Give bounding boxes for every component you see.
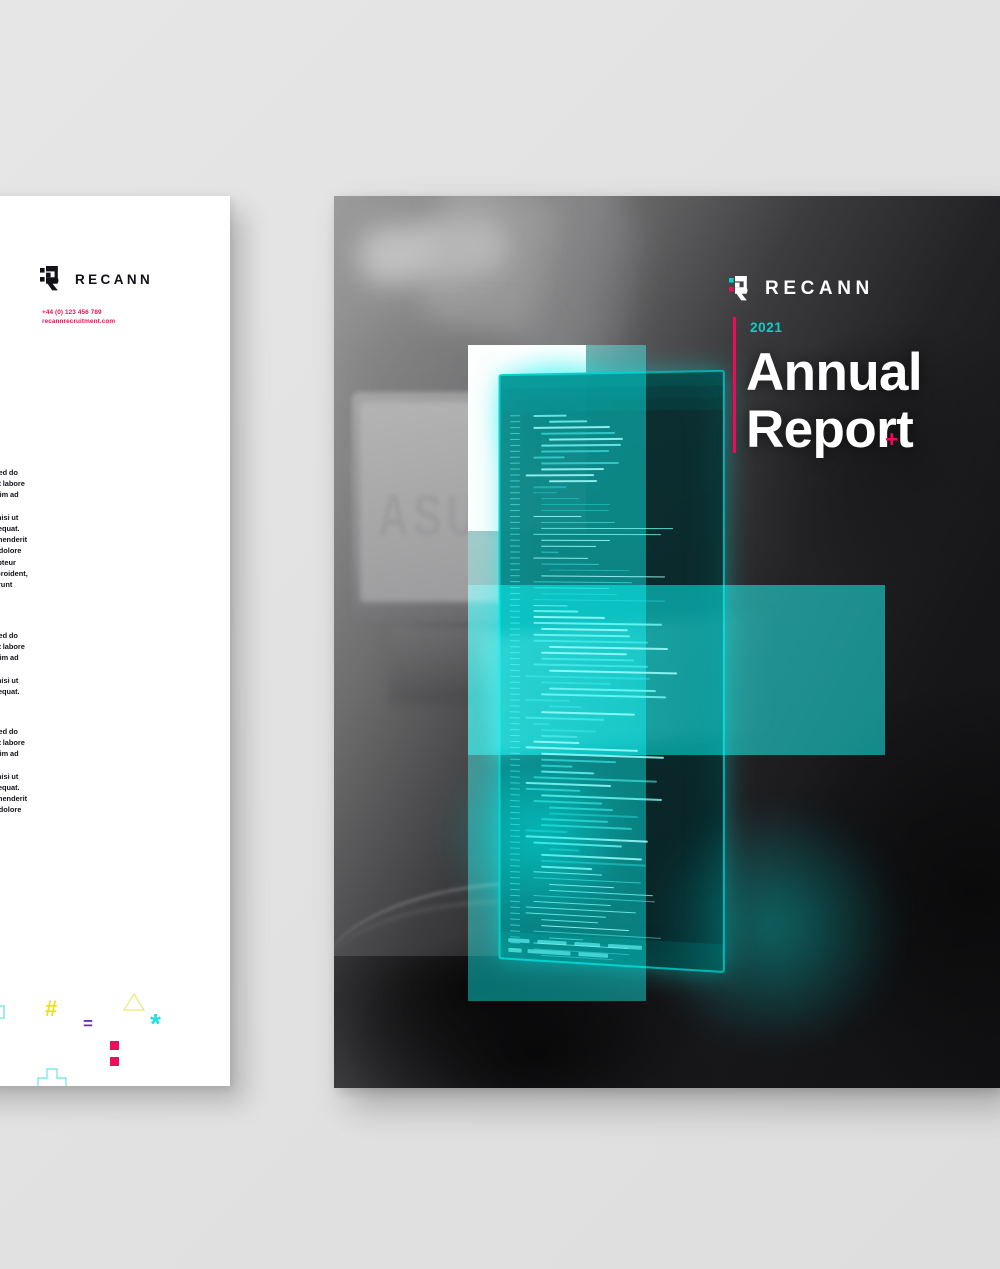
- equals-icon: =: [83, 1015, 93, 1032]
- letterhead-wordmark: RECANN: [75, 272, 153, 287]
- cover-title-line-1: Annual: [746, 344, 922, 401]
- body-paragraph: Lorem ipsum dolor sit amet, consectetur …: [0, 714, 28, 827]
- asterisk-icon: *: [150, 1010, 161, 1038]
- recann-r-pixel-logo-icon: [729, 276, 755, 302]
- cross-outline-icon: [0, 994, 6, 1030]
- letterhead-body-text: Lorem ipsum dolor sit amet, consectetur …: [0, 448, 28, 844]
- cover-year: 2021: [750, 320, 782, 335]
- contact-website: recannrecruitment.com: [42, 317, 115, 326]
- body-paragraph: Lorem ipsum dolor sit amet, consectetur …: [0, 619, 28, 698]
- mockup-stage: RECANN +44 (0) 123 456 789 recannrecruit…: [0, 0, 1000, 1269]
- letterhead-decorative-glyphs: = # = *: [0, 976, 230, 1086]
- cross-outline-icon: [37, 1068, 67, 1086]
- triangle-outline-icon: [122, 992, 146, 1012]
- annual-report-cover: ASUS: [334, 196, 1000, 1088]
- hash-icon: #: [45, 998, 57, 1020]
- screen-glow-right: [634, 816, 914, 1036]
- body-paragraph: Lorem ipsum dolor sit amet, consectetur …: [0, 455, 28, 601]
- recann-r-pixel-logo-icon: [40, 266, 66, 292]
- pink-accent-bar: [733, 317, 736, 453]
- cover-wordmark: RECANN: [765, 278, 874, 300]
- cover-logo: RECANN: [729, 276, 874, 302]
- contact-phone: +44 (0) 123 456 789: [42, 308, 115, 317]
- letterhead-sheet: RECANN +44 (0) 123 456 789 recannrecruit…: [0, 196, 230, 1086]
- colon-squares-icon: [110, 1041, 120, 1067]
- letterhead-logo: RECANN: [40, 266, 153, 292]
- letterhead-contact-block: +44 (0) 123 456 789 recannrecruitment.co…: [42, 308, 115, 327]
- plus-accent-icon: +: [885, 428, 898, 451]
- teal-band-overlay: [468, 585, 885, 755]
